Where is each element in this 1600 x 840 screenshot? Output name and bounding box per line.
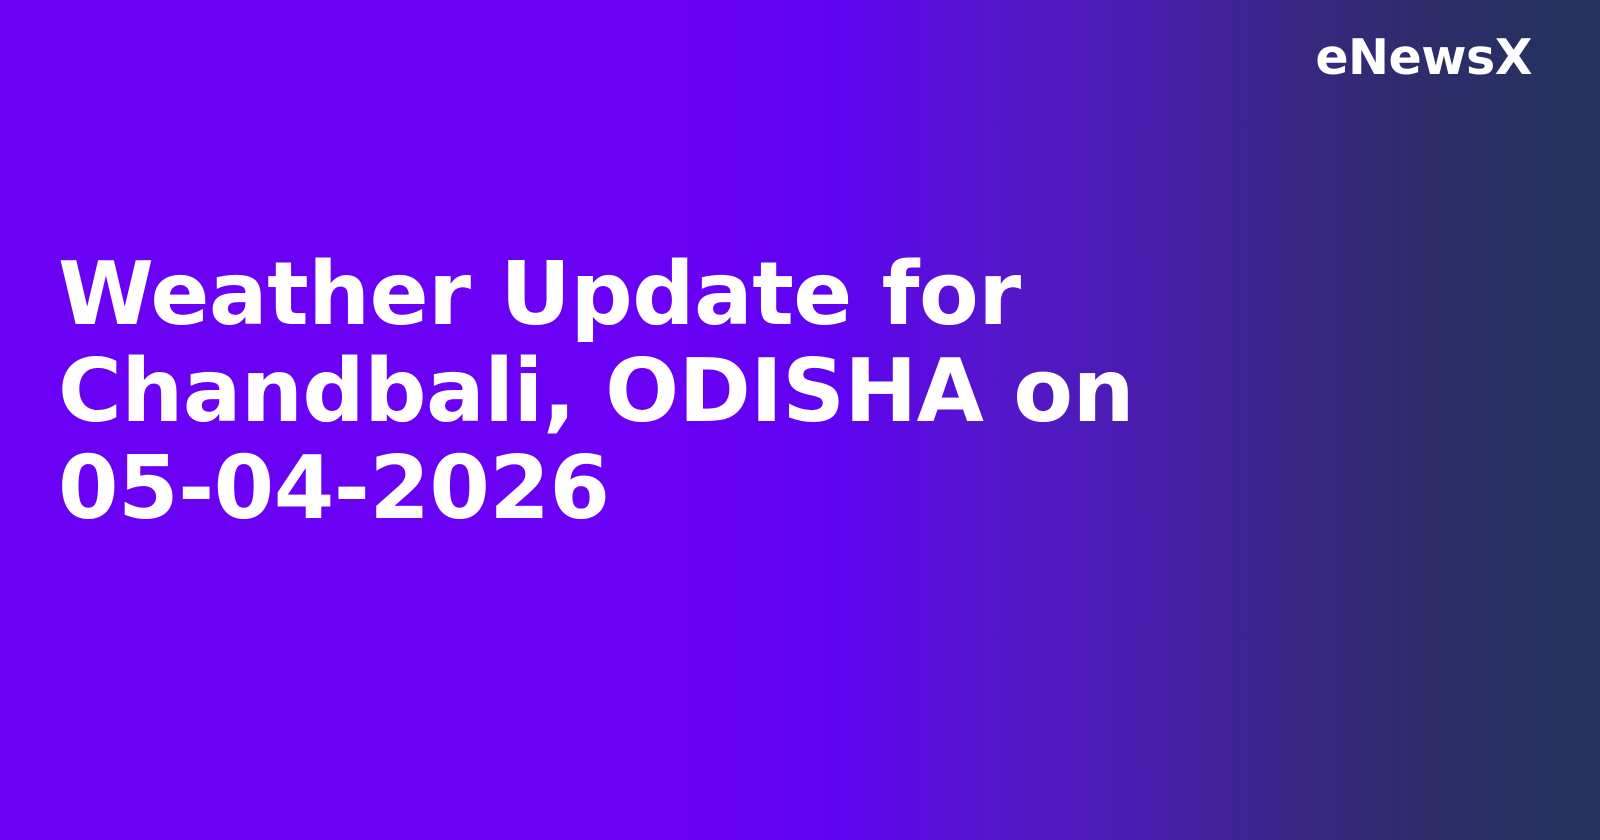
page-title: Weather Update for Chandbali, ODISHA on … bbox=[58, 246, 1178, 537]
headline-block: Weather Update for Chandbali, ODISHA on … bbox=[58, 246, 1178, 537]
news-banner: eNewsX Weather Update for Chandbali, ODI… bbox=[0, 0, 1600, 840]
brand-logo[interactable]: eNewsX bbox=[1315, 31, 1532, 85]
